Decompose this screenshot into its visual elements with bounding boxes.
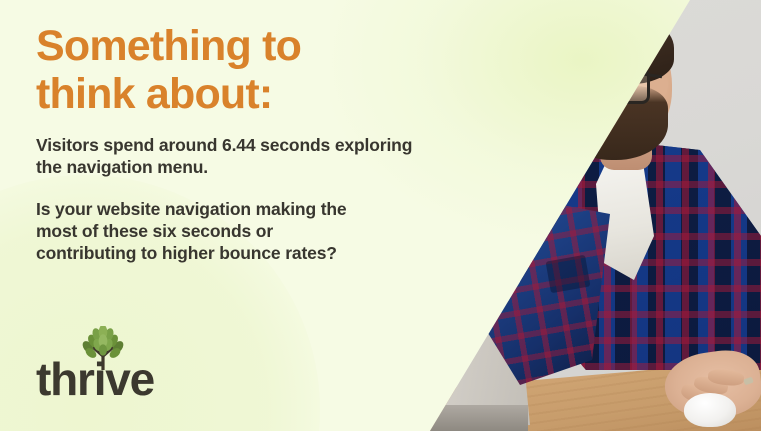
body-paragraph-question: Is your website navigation making the mo… <box>36 198 436 264</box>
social-graphic-canvas: Something to think about: Visitors spend… <box>0 0 761 431</box>
photo-shirt-pocket <box>546 255 591 293</box>
photo-computer-mouse <box>684 393 736 427</box>
page-title: Something to think about: <box>36 22 456 118</box>
body-paragraph-stat: Visitors spend around 6.44 seconds explo… <box>36 134 486 178</box>
thrive-wordmark: thrive <box>36 356 154 402</box>
thrive-logo: thrive <box>36 326 196 402</box>
